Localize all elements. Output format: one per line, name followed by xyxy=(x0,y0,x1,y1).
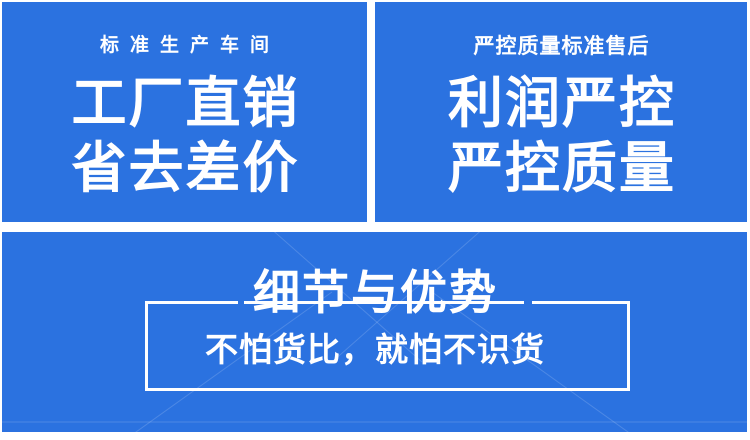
panel-details-advantages: 细节与优势 不怕货比，就怕不识货 xyxy=(2,232,747,432)
panel-right-headline-line1: 利润严控 xyxy=(375,70,747,136)
panel-left-headline-line1: 工厂直销 xyxy=(2,70,367,136)
panel-left-headline-line2: 省去差价 xyxy=(2,135,367,201)
panel-left-eyebrow: 标准生产车间 xyxy=(2,30,367,57)
panel-factory-direct: 标准生产车间 工厂直销 省去差价 xyxy=(2,2,367,222)
bottom-panel-subtitle: 不怕货比，就怕不识货 xyxy=(2,330,747,370)
panel-right-eyebrow: 严控质量标准售后 xyxy=(375,30,747,60)
panel-quality-control: 严控质量标准售后 利润严控 严控质量 xyxy=(375,2,747,222)
bottom-panel-title: 细节与优势 xyxy=(2,266,747,320)
panel-right-headline-line2: 严控质量 xyxy=(375,135,747,201)
promo-banner: 标准生产车间 工厂直销 省去差价 严控质量标准售后 利润严控 严控质量 细节与优… xyxy=(0,0,750,440)
